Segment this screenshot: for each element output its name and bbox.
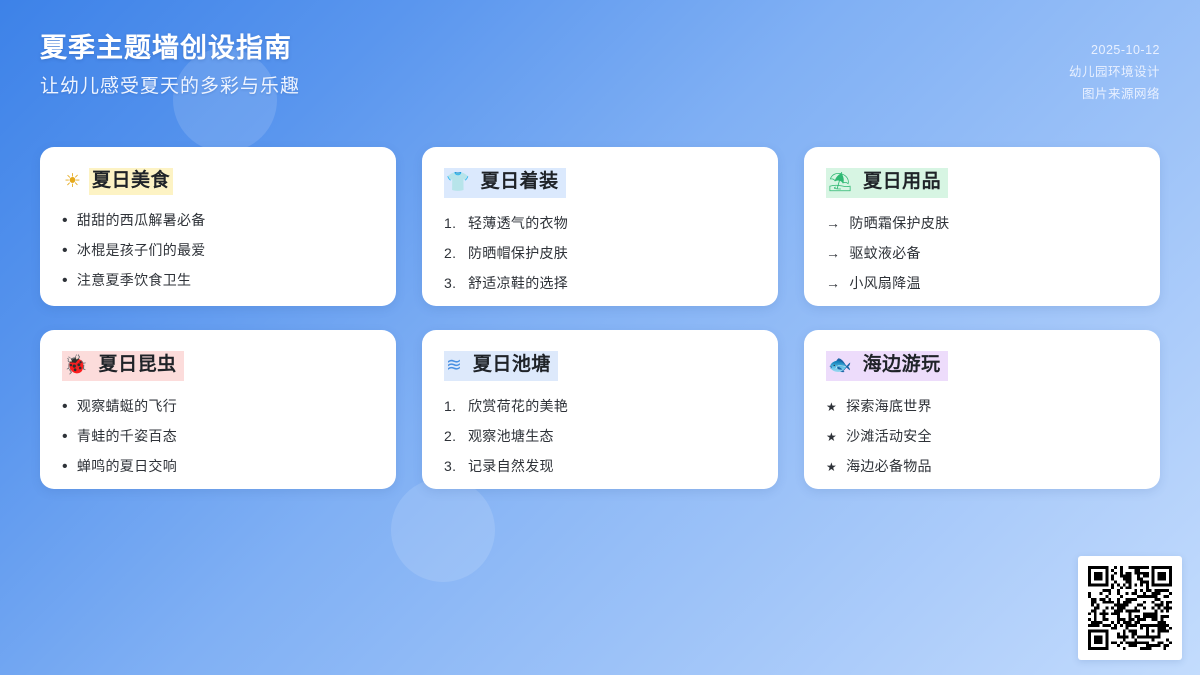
card-title: 海边游玩	[860, 352, 944, 379]
list-item: →小风扇降温	[826, 273, 1138, 294]
list-item-text: 观察蜻蜓的飞行	[77, 396, 177, 417]
card-header: ⛱夏日用品	[826, 168, 1138, 198]
list-item-text: 轻薄透气的衣物	[468, 213, 568, 234]
card[interactable]: 🐟海边游玩★探索海底世界★沙滩活动安全★海边必备物品	[804, 330, 1160, 489]
list-item: 2.观察池塘生态	[444, 426, 756, 447]
list-item-text: 蝉鸣的夏日交响	[77, 456, 177, 477]
list-marker: 2.	[444, 426, 459, 447]
list-item-text: 探索海底世界	[846, 396, 932, 417]
card-list: →防晒霜保护皮肤→驱蚊液必备→小风扇降温	[826, 213, 1138, 294]
qr-code-panel[interactable]	[1078, 556, 1182, 660]
list-item-text: 沙滩活动安全	[846, 426, 932, 447]
list-item: 1.轻薄透气的衣物	[444, 213, 756, 234]
list-marker: •	[62, 457, 68, 476]
list-item: •青蛙的千姿百态	[62, 426, 374, 447]
list-item-text: 防晒帽保护皮肤	[468, 243, 568, 264]
list-item: •蝉鸣的夏日交响	[62, 456, 374, 477]
list-item-text: 防晒霜保护皮肤	[849, 213, 949, 234]
list-item: •冰棍是孩子们的最爱	[62, 240, 374, 261]
card-list: •甜甜的西瓜解暑必备•冰棍是孩子们的最爱•注意夏季饮食卫生	[62, 210, 374, 291]
list-item: ★探索海底世界	[826, 396, 1138, 417]
page-title: 夏季主题墙创设指南	[40, 30, 300, 66]
list-marker: •	[62, 271, 68, 290]
meta-org: 幼儿园环境设计	[1069, 62, 1160, 84]
page-header: 夏季主题墙创设指南 让幼儿感受夏天的多彩与乐趣 2025-10-12 幼儿园环境…	[40, 30, 1160, 106]
card-list: ★探索海底世界★沙滩活动安全★海边必备物品	[826, 396, 1138, 477]
card-header: 🐟海边游玩	[826, 351, 1138, 381]
list-item-text: 冰棍是孩子们的最爱	[77, 240, 206, 261]
tshirt-icon: 👕	[446, 173, 470, 192]
beach-umbrella-icon: ⛱	[828, 173, 852, 192]
page-subtitle: 让幼儿感受夏天的多彩与乐趣	[40, 74, 300, 100]
list-item: 3.记录自然发现	[444, 456, 756, 477]
card[interactable]: 🐞夏日昆虫•观察蜻蜓的飞行•青蛙的千姿百态•蝉鸣的夏日交响	[40, 330, 396, 489]
title-block: 夏季主题墙创设指南 让幼儿感受夏天的多彩与乐趣	[40, 30, 300, 100]
card-title: 夏日昆虫	[96, 352, 180, 379]
card-title: 夏日用品	[860, 169, 944, 196]
card[interactable]: ⛱夏日用品→防晒霜保护皮肤→驱蚊液必备→小风扇降温	[804, 147, 1160, 306]
list-item: →驱蚊液必备	[826, 243, 1138, 264]
qr-code	[1088, 566, 1172, 650]
list-item-text: 观察池塘生态	[468, 426, 554, 447]
list-marker: 3.	[444, 456, 459, 477]
card[interactable]: ≋夏日池塘1.欣赏荷花的美艳2.观察池塘生态3.记录自然发现	[422, 330, 778, 489]
list-item-text: 青蛙的千姿百态	[77, 426, 177, 447]
list-marker: •	[62, 427, 68, 446]
list-marker: 3.	[444, 273, 459, 294]
list-marker: →	[826, 273, 840, 294]
card-header: 👕夏日着装	[444, 168, 756, 198]
bug-icon: 🐞	[64, 356, 88, 375]
list-item-text: 驱蚊液必备	[849, 243, 921, 264]
card-header: ☀夏日美食	[62, 168, 374, 195]
card-list: 1.欣赏荷花的美艳2.观察池塘生态3.记录自然发现	[444, 396, 756, 477]
card[interactable]: 👕夏日着装1.轻薄透气的衣物2.防晒帽保护皮肤3.舒适凉鞋的选择	[422, 147, 778, 306]
list-marker: 1.	[444, 396, 459, 417]
list-item-text: 记录自然发现	[468, 456, 554, 477]
list-item: 2.防晒帽保护皮肤	[444, 243, 756, 264]
list-item: 3.舒适凉鞋的选择	[444, 273, 756, 294]
meta-date: 2025-10-12	[1069, 40, 1160, 62]
list-item-text: 注意夏季饮食卫生	[77, 270, 191, 291]
list-item: →防晒霜保护皮肤	[826, 213, 1138, 234]
card-heading-highlight: ⛱夏日用品	[826, 168, 948, 198]
list-item: •甜甜的西瓜解暑必备	[62, 210, 374, 231]
list-item-text: 海边必备物品	[846, 456, 932, 477]
water-wave-icon: ≋	[446, 356, 462, 375]
list-marker: ★	[826, 428, 837, 446]
card-heading-highlight: 👕夏日着装	[444, 168, 566, 198]
list-marker: ★	[826, 458, 837, 476]
card-list: 1.轻薄透气的衣物2.防晒帽保护皮肤3.舒适凉鞋的选择	[444, 213, 756, 294]
card-title: 夏日美食	[89, 168, 173, 195]
list-marker: →	[826, 243, 840, 264]
header-meta: 2025-10-12 幼儿园环境设计 图片来源网络	[1069, 30, 1160, 106]
decorative-circle-lower	[391, 478, 495, 582]
list-marker: ★	[826, 398, 837, 416]
list-item-text: 甜甜的西瓜解暑必备	[77, 210, 206, 231]
card-header: ≋夏日池塘	[444, 351, 756, 381]
list-item: ★海边必备物品	[826, 456, 1138, 477]
list-item-text: 舒适凉鞋的选择	[468, 273, 568, 294]
list-marker: •	[62, 211, 68, 230]
list-item: •观察蜻蜓的飞行	[62, 396, 374, 417]
list-item-text: 小风扇降温	[849, 273, 921, 294]
card-title: 夏日池塘	[470, 352, 554, 379]
card-header: 🐞夏日昆虫	[62, 351, 374, 381]
list-marker: →	[826, 213, 840, 234]
list-item: 1.欣赏荷花的美艳	[444, 396, 756, 417]
card-heading-highlight: 🐟海边游玩	[826, 351, 948, 381]
card-list: •观察蜻蜓的飞行•青蛙的千姿百态•蝉鸣的夏日交响	[62, 396, 374, 477]
fish-icon: 🐟	[828, 356, 852, 375]
list-item: •注意夏季饮食卫生	[62, 270, 374, 291]
list-item-text: 欣赏荷花的美艳	[468, 396, 568, 417]
card-title: 夏日着装	[478, 169, 562, 196]
sun-icon: ☀	[64, 172, 81, 191]
card-heading-highlight: ☀夏日美食	[62, 168, 175, 195]
list-marker: 2.	[444, 243, 459, 264]
card[interactable]: ☀夏日美食•甜甜的西瓜解暑必备•冰棍是孩子们的最爱•注意夏季饮食卫生	[40, 147, 396, 306]
list-marker: •	[62, 397, 68, 416]
card-grid: ☀夏日美食•甜甜的西瓜解暑必备•冰棍是孩子们的最爱•注意夏季饮食卫生👕夏日着装1…	[40, 147, 1160, 489]
list-marker: 1.	[444, 213, 459, 234]
list-item: ★沙滩活动安全	[826, 426, 1138, 447]
meta-source: 图片来源网络	[1069, 84, 1160, 106]
list-marker: •	[62, 241, 68, 260]
card-heading-highlight: ≋夏日池塘	[444, 351, 558, 381]
card-heading-highlight: 🐞夏日昆虫	[62, 351, 184, 381]
